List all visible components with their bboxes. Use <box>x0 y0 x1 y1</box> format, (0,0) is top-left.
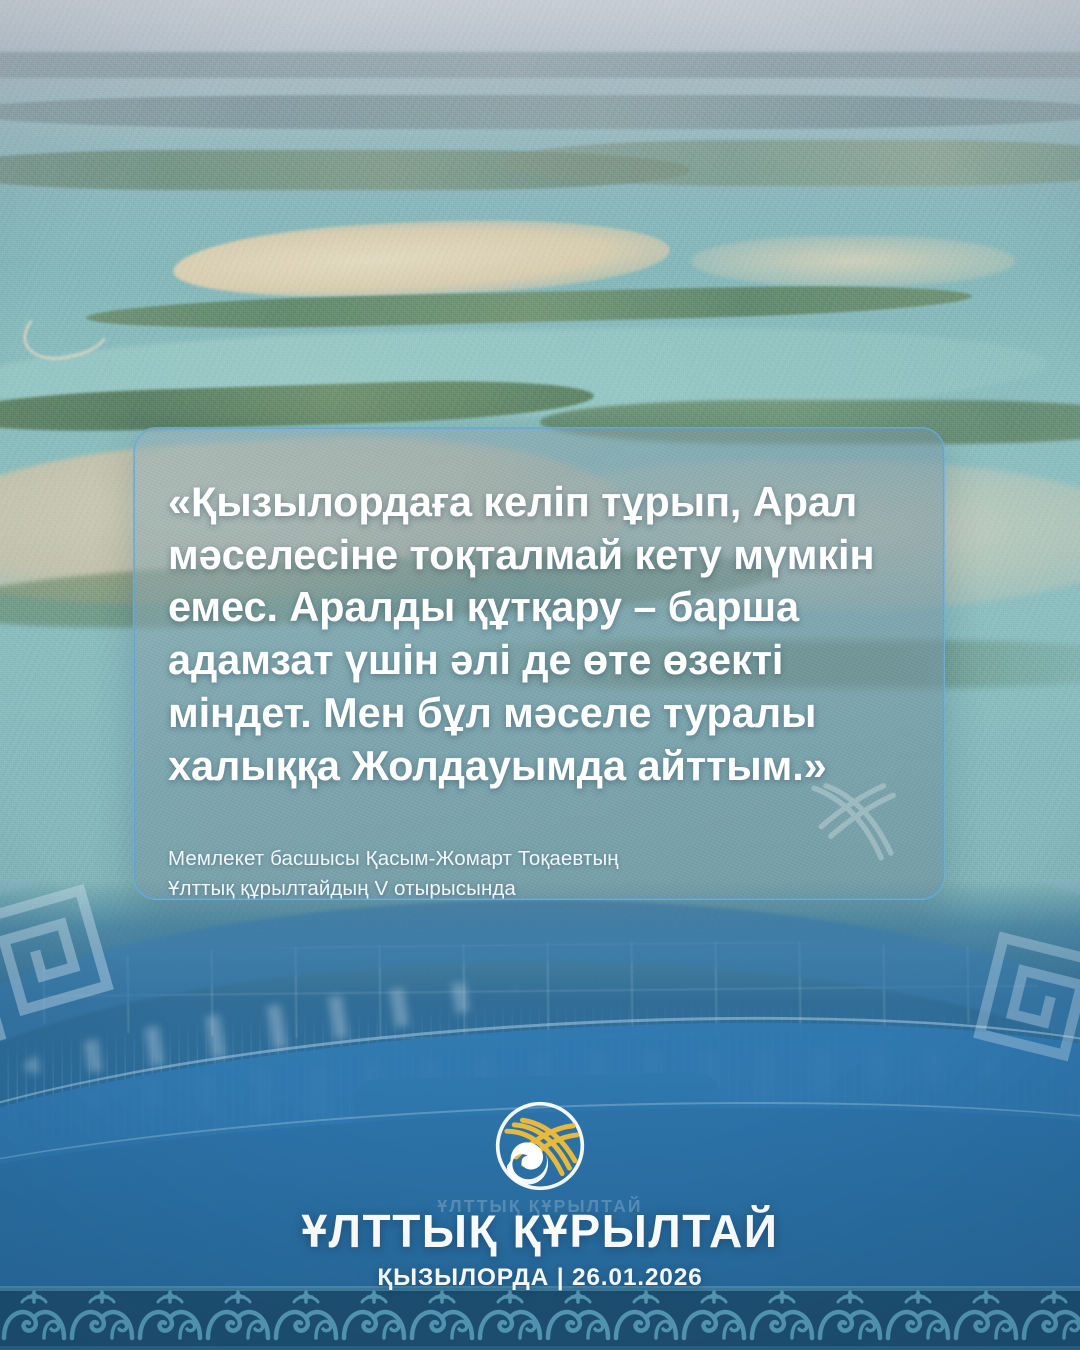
brand-watermark-text: ҰЛТТЫҚ ҚҰРЫЛТАЙ <box>437 1196 642 1217</box>
quote-card-content: «Қызылордаға келіп тұрып, Арал мәселесін… <box>134 428 944 900</box>
quote-attribution: Мемлекет басшысы Қасым-Жомарт Тоқаевтың … <box>168 844 892 900</box>
far-landmass <box>0 95 1080 129</box>
ulttyq-quryltai-logo-icon <box>494 1100 586 1192</box>
quote-text: «Қызылордаға келіп тұрып, Арал мәселесін… <box>168 476 892 792</box>
sandbank-upper-right <box>691 236 1015 286</box>
brand-subtitle: ҚЫЗЫЛОРДА | 26.01.2026 <box>377 1264 702 1292</box>
quote-card: «Қызылордаға келіп тұрып, Арал мәселесін… <box>133 427 945 900</box>
mid-landmass-right <box>497 140 1080 186</box>
kazakh-spiral-ornament-icon <box>0 1288 1080 1350</box>
horizon-strip <box>0 52 1080 78</box>
footer-brand: ҰЛТТЫҚ ҚҰРЫЛТАЙ ҰЛТТЫҚ ҚҰРЫЛТАЙ ҚЫЗЫЛОРД… <box>0 1100 1080 1292</box>
poster: «Қызылордаға келіп тұрып, Арал мәселесін… <box>0 0 1080 1350</box>
ornament-band <box>0 1288 1080 1350</box>
